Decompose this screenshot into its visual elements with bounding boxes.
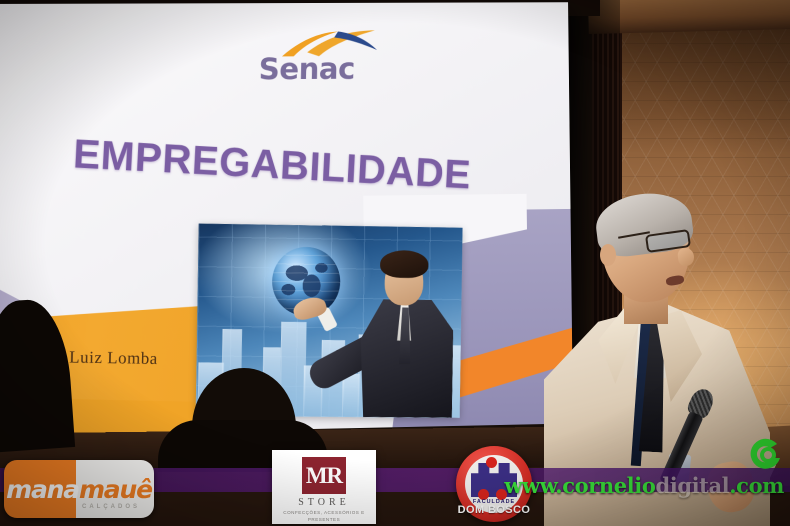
slide-canvas: Senac EMPREGABILIDADE Prof° Luiz Lomba [0, 2, 573, 436]
watermark-part-a: www.cornelio [504, 473, 655, 498]
manamaue-word-b: mauê [79, 475, 152, 504]
manamaue-word-a: mana [6, 475, 79, 504]
businessman-hair [380, 250, 429, 278]
presenter-nose [677, 247, 695, 267]
watermark-part-b: digital [655, 473, 729, 498]
projection-screen: Senac EMPREGABILIDADE Prof° Luiz Lomba [0, 2, 573, 436]
dom-bosco-dot [486, 457, 497, 468]
slide-title: EMPREGABILIDADE [72, 131, 531, 202]
senac-logo: Senac [252, 30, 389, 92]
mr-store-tagline: CONFECÇÕES, ACESSÓRIOS E PRESENTES [276, 510, 372, 524]
businessman-figure [338, 247, 454, 417]
screenshot-stage: Senac EMPREGABILIDADE Prof° Luiz Lomba [0, 0, 790, 526]
mr-store-name: STORE [298, 497, 350, 508]
sponsor-logo-manamaue[interactable]: manamauê CALÇADOS [4, 460, 154, 518]
presenter-ear [600, 244, 616, 266]
cornelio-swirl-icon [744, 434, 786, 476]
manamaue-tagline: CALÇADOS [82, 504, 140, 510]
site-watermark: www.corneliodigital.com [504, 473, 784, 498]
watermark-part-c: .com [729, 473, 784, 498]
dom-bosco-name: DOM BOSCO [456, 504, 532, 516]
mr-monogram: MR [302, 457, 346, 494]
senac-wordmark: Senac [258, 52, 389, 87]
sponsor-logo-mr-store[interactable]: MR STORE CONFECÇÕES, ACESSÓRIOS E PRESEN… [272, 450, 376, 524]
